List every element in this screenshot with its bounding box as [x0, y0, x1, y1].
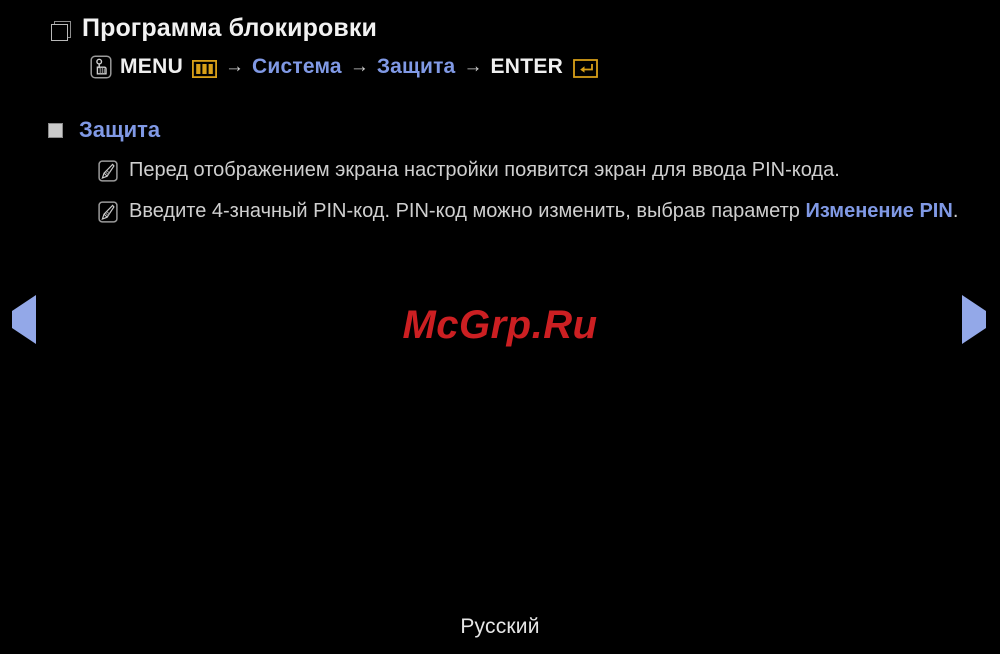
note-text: Перед отображением экрана настройки появ…	[129, 155, 840, 186]
menu-button-label: MENU	[120, 53, 183, 81]
stacked-square-icon	[48, 21, 68, 43]
section-title: Защита	[79, 115, 160, 145]
menu-path: MENU → Система → Защита → ENTER	[40, 53, 960, 81]
page-title: Программа блокировки	[82, 12, 377, 44]
path-arrow-1: →	[224, 53, 245, 81]
note-pen-icon	[98, 201, 118, 223]
list-item: Введите 4-значный PIN-код. PIN-код можно…	[98, 196, 960, 227]
content-area: Программа блокировки MENU	[0, 0, 1000, 237]
watermark: McGrp.Ru	[0, 303, 1000, 348]
language-label: Русский	[0, 615, 1000, 639]
menu-path-step-security[interactable]: Защита	[377, 53, 456, 81]
enter-key-icon	[573, 58, 598, 77]
section-header: Защита	[48, 115, 960, 145]
path-arrow-2: →	[349, 53, 370, 81]
note-text: Введите 4-значный PIN-код. PIN-код можно…	[129, 196, 958, 227]
triangle-right-icon	[962, 295, 986, 344]
path-arrow-3: →	[462, 53, 483, 81]
menu-key-icon	[192, 58, 217, 76]
enter-button-label: ENTER	[490, 53, 563, 81]
change-pin-link[interactable]: Изменение PIN	[805, 200, 952, 222]
filled-square-icon	[48, 123, 63, 138]
note-text-after: .	[953, 200, 959, 222]
triangle-left-icon	[12, 295, 36, 344]
emanual-screen: Программа блокировки MENU	[0, 0, 1000, 654]
touch-press-icon	[90, 55, 112, 79]
section-security: Защита Перед отображением экрана настрой…	[40, 115, 960, 227]
next-page-button[interactable]	[962, 311, 992, 343]
menu-path-step-system[interactable]: Система	[252, 53, 342, 81]
list-item: Перед отображением экрана настройки появ…	[98, 155, 960, 186]
previous-page-button[interactable]	[12, 311, 42, 343]
note-list: Перед отображением экрана настройки появ…	[48, 155, 960, 227]
note-pen-icon	[98, 160, 118, 182]
note-text-before: Введите 4-значный PIN-код. PIN-код можно…	[129, 200, 805, 222]
topic-heading: Программа блокировки	[40, 12, 960, 44]
